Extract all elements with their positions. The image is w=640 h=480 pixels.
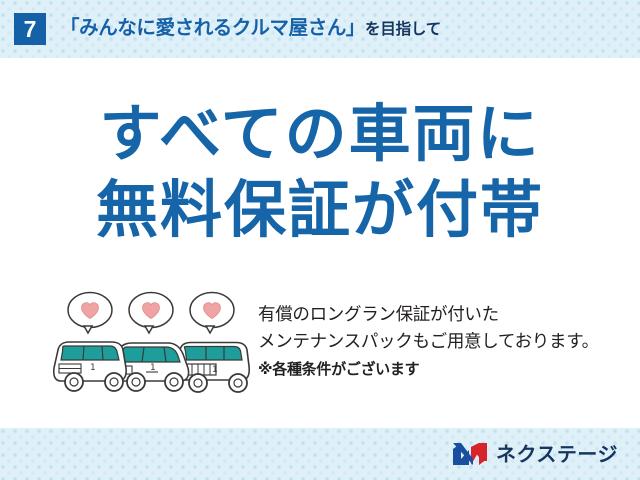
headline: すべての車両に 無料保証が付帯 <box>0 96 640 248</box>
three-cars-with-heart-bubbles-illustration: 1 1 <box>46 288 258 400</box>
body-copy: 有償のロングラン保証が付いた メンテナンスパックもご用意しております。 ※各種条… <box>258 302 634 382</box>
svg-text:1: 1 <box>150 363 156 373</box>
body-copy-note: ※各種条件がございます <box>258 356 634 382</box>
heart-bubble-3 <box>190 293 234 334</box>
svg-text:1: 1 <box>212 365 218 375</box>
body-copy-line-1: 有償のロングラン保証が付いた <box>258 302 634 329</box>
heart-bubble-1 <box>68 293 112 334</box>
car-kei-van: 1 <box>54 342 126 391</box>
brand-wordmark: ネクステージ <box>496 444 618 464</box>
brand-logo: ネクステージ <box>451 441 618 467</box>
heart-bubble-2 <box>129 293 173 334</box>
svg-text:1: 1 <box>90 363 96 373</box>
header-title-quote: 「みんなに愛されるクルマ屋さん」 <box>60 17 365 39</box>
header-title-tail: を目指して <box>365 21 441 38</box>
step-number-badge: 7 <box>14 13 46 45</box>
headline-line-2: 無料保証が付帯 <box>0 172 640 248</box>
headline-line-1: すべての車両に <box>0 96 640 172</box>
promo-banner: 7 「みんなに愛されるクルマ屋さん」を目指して すべての車両に 無料保証が付帯 <box>0 0 640 480</box>
header-title: 「みんなに愛されるクルマ屋さん」を目指して <box>60 19 441 39</box>
nextage-n-mark-icon <box>451 441 489 467</box>
footer-logo: ネクステージ <box>0 428 640 480</box>
lower-content: 1 1 <box>0 288 640 408</box>
header-row: 7 「みんなに愛されるクルマ屋さん」を目指して <box>0 0 640 58</box>
body-copy-line-2: メンテナンスパックもご用意しております。 <box>258 329 634 356</box>
